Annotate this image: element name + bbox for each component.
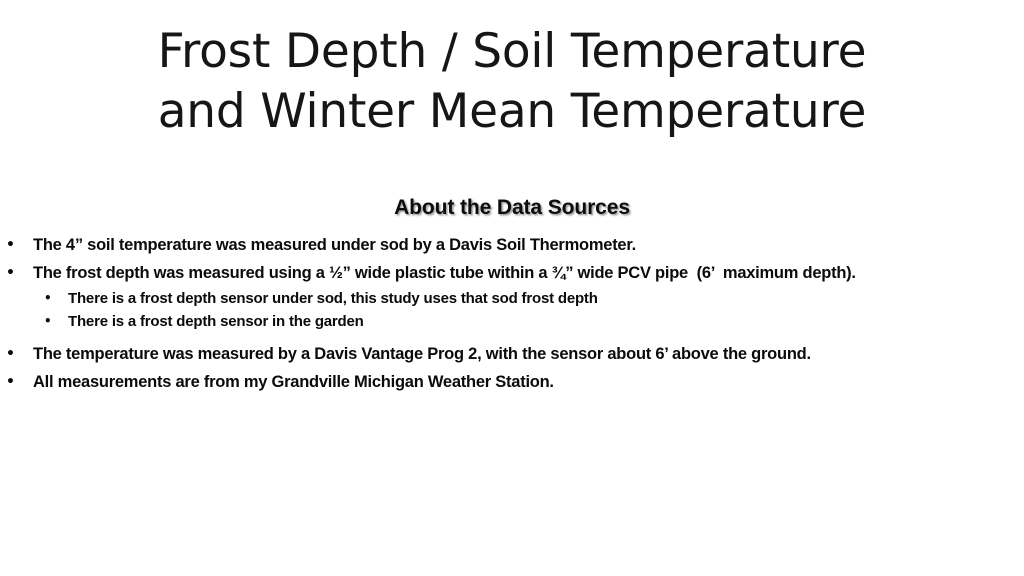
list-item: • There is a frost depth sensor in the g… <box>0 310 1024 333</box>
section-heading: About the Data Sources <box>0 196 1024 220</box>
list-item: • There is a frost depth sensor under so… <box>0 287 1024 310</box>
list-item-text: The frost depth was measured using a ½” … <box>33 259 1024 287</box>
list-item: • The temperature was measured by a Davi… <box>0 340 1024 368</box>
list-item-text: All measurements are from my Grandville … <box>33 368 1024 396</box>
list-item: • The frost depth was measured using a ½… <box>0 259 1024 287</box>
list-item-text: The temperature was measured by a Davis … <box>33 340 1024 368</box>
list-item: • All measurements are from my Grandvill… <box>0 368 1024 396</box>
list-item-text: There is a frost depth sensor under sod,… <box>68 287 1024 310</box>
bullet-point-icon: • <box>6 340 33 368</box>
bullet-point-icon: • <box>44 287 68 310</box>
bullet-list: • The 4” soil temperature was measured u… <box>0 231 1024 396</box>
title-line-2: and Winter Mean Temperature <box>0 82 1024 142</box>
title-line-1: Frost Depth / Soil Temperature <box>0 22 1024 82</box>
list-item-text: The 4” soil temperature was measured und… <box>33 231 1024 259</box>
list-item: • The 4” soil temperature was measured u… <box>0 231 1024 259</box>
list-item-text: There is a frost depth sensor in the gar… <box>68 310 1024 333</box>
bullet-point-icon: • <box>6 259 33 287</box>
slide-canvas: Frost Depth / Soil Temperature and Winte… <box>0 0 1024 576</box>
bullet-point-icon: • <box>6 231 33 259</box>
bullet-point-icon: • <box>44 310 68 333</box>
bullet-point-icon: • <box>6 368 33 396</box>
slide-title: Frost Depth / Soil Temperature and Winte… <box>0 22 1024 142</box>
